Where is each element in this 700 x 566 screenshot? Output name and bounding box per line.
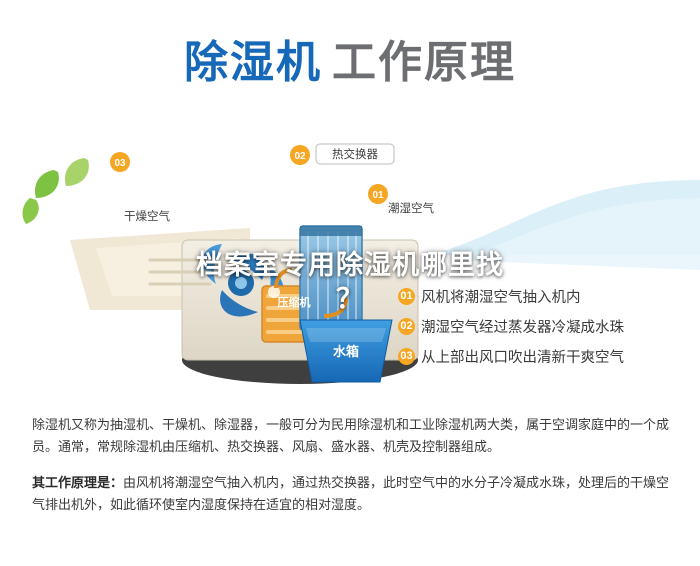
legend-badge: 02 bbox=[398, 318, 415, 335]
body-copy: 除湿机又称为抽湿机、干燥机、除湿器，一般可分为民用除湿机和工业除湿机两大类，属于… bbox=[32, 414, 672, 530]
svg-text:干燥空气: 干燥空气 bbox=[124, 209, 170, 223]
legend-label: 从上部出风口吹出清新干爽空气 bbox=[421, 346, 624, 367]
body-paragraph-2: 其工作原理是：由风机将潮湿空气抽入机内，通过热交换器，此时空气中的水分子冷凝成水… bbox=[32, 472, 672, 516]
svg-text:压缩机: 压缩机 bbox=[278, 295, 311, 309]
label-compressor: 压缩机 bbox=[268, 290, 320, 309]
leaf-icon bbox=[23, 158, 89, 224]
legend-label: 风机将潮湿空气抽入机内 bbox=[421, 286, 581, 307]
marker-01: 01 bbox=[368, 184, 388, 204]
page-title: 除湿机工作原理 bbox=[0, 26, 700, 90]
svg-text:01: 01 bbox=[372, 190, 384, 201]
marker-02: 02 bbox=[290, 145, 310, 165]
legend-item: 02 潮湿空气经过蒸发器冷凝成水珠 bbox=[398, 316, 698, 337]
body-paragraph-2-lead: 其工作原理是： bbox=[32, 475, 123, 490]
legend-item: 01 风机将潮湿空气抽入机内 bbox=[398, 286, 698, 307]
svg-text:潮湿空气: 潮湿空气 bbox=[388, 201, 434, 215]
label-dry-air: 干燥空气 bbox=[124, 209, 170, 223]
body-paragraph-1: 除湿机又称为抽湿机、干燥机、除湿器，一般可分为民用除湿机和工业除湿机两大类，属于… bbox=[32, 414, 672, 458]
legend-label: 潮湿空气经过蒸发器冷凝成水珠 bbox=[421, 316, 624, 337]
infographic-page: 除湿机工作原理 bbox=[0, 0, 700, 566]
svg-text:03: 03 bbox=[114, 158, 126, 169]
legend-badge: 03 bbox=[398, 348, 415, 365]
svg-text:02: 02 bbox=[294, 151, 306, 162]
svg-text:水箱: 水箱 bbox=[333, 344, 359, 359]
page-title-primary: 除湿机 bbox=[184, 38, 322, 87]
page-title-secondary: 工作原理 bbox=[332, 38, 516, 87]
legend-list: 01 风机将潮湿空气抽入机内 02 潮湿空气经过蒸发器冷凝成水珠 03 从上部出… bbox=[398, 286, 698, 376]
label-humid-air: 潮湿空气 bbox=[388, 201, 434, 215]
marker-03: 03 bbox=[110, 152, 130, 172]
label-water-tank: 水箱 bbox=[333, 344, 359, 359]
svg-text:热交换器: 热交换器 bbox=[332, 147, 378, 161]
legend-badge: 01 bbox=[398, 288, 415, 305]
label-heat-exchanger: 热交换器 bbox=[316, 144, 394, 164]
body-paragraph-2-text: 由风机将潮湿空气抽入机内，通过热交换器，此时空气中的水分子冷凝成水珠，处理后的干… bbox=[32, 475, 669, 512]
legend-item: 03 从上部出风口吹出清新干爽空气 bbox=[398, 346, 698, 367]
